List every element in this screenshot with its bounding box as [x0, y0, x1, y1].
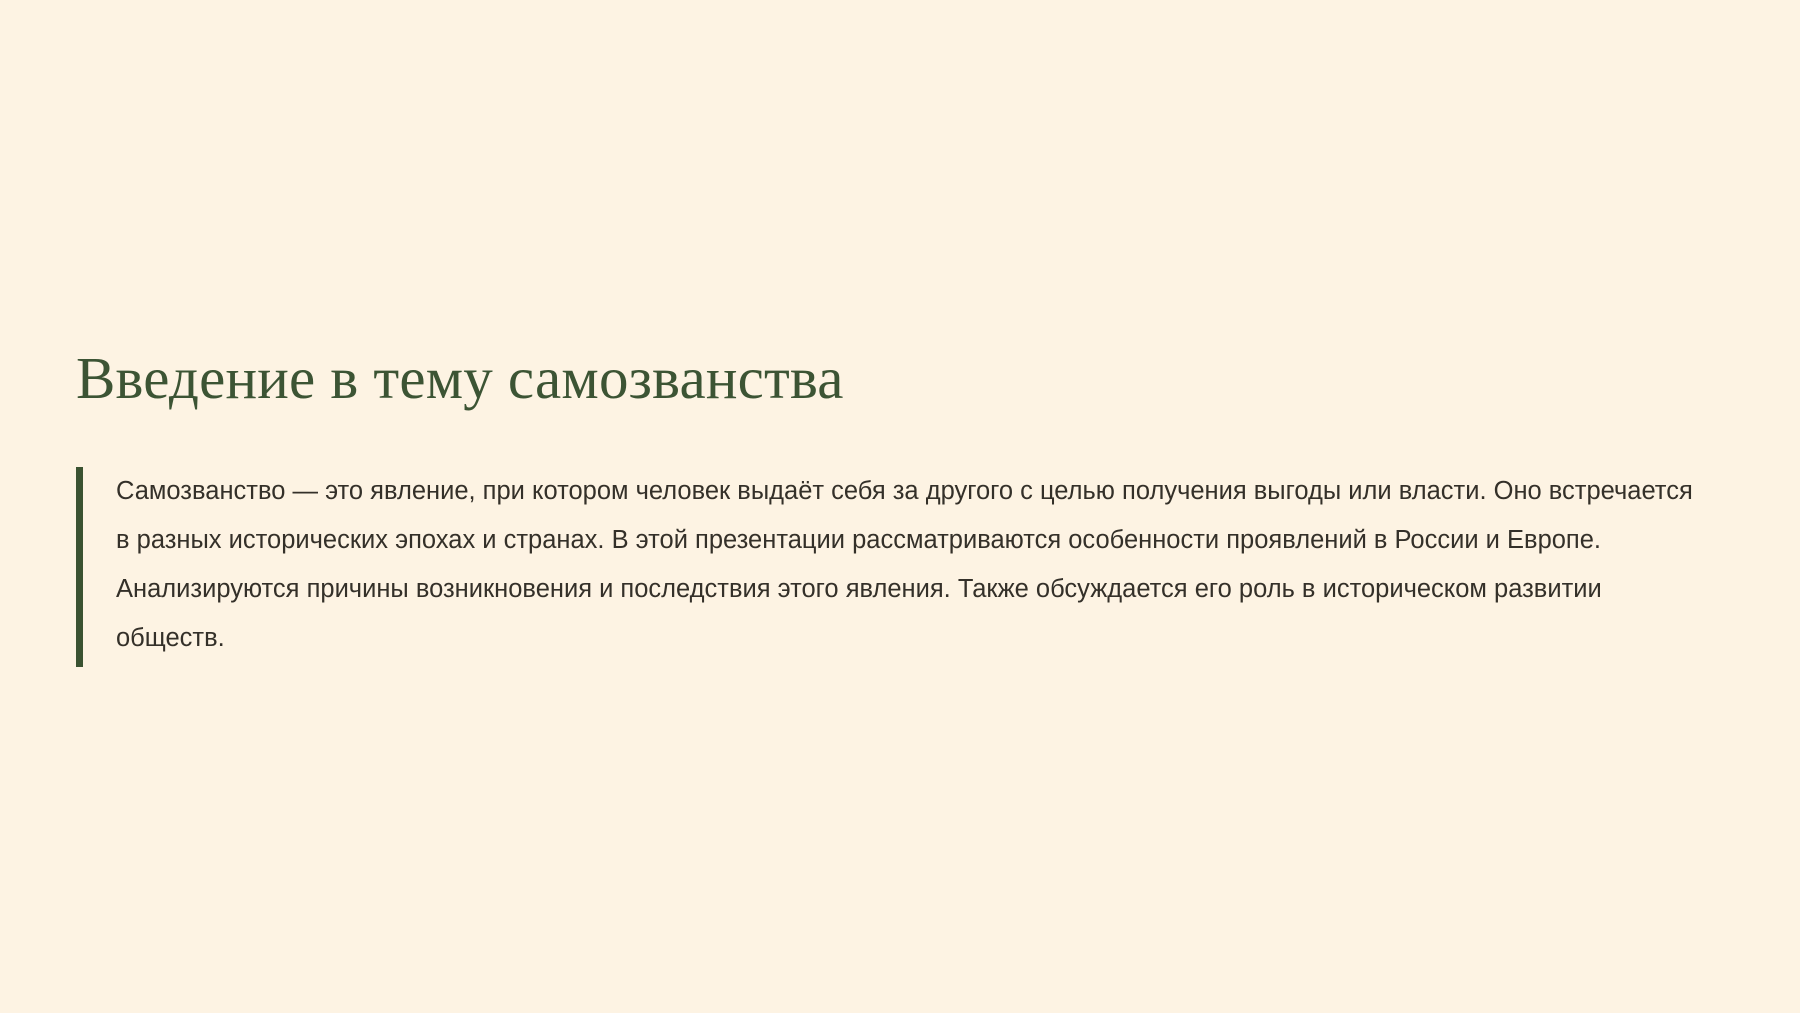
- highlighted-paragraph-block: Самозванство — это явление, при котором …: [76, 467, 1696, 663]
- page-title: Введение в тему самозванства: [76, 348, 1736, 410]
- body-paragraph: Самозванство — это явление, при котором …: [116, 467, 1696, 663]
- slide-content: Введение в тему самозванства Самозванств…: [76, 348, 1736, 663]
- presentation-slide: Введение в тему самозванства Самозванств…: [0, 0, 1800, 1013]
- accent-bar: [76, 467, 83, 667]
